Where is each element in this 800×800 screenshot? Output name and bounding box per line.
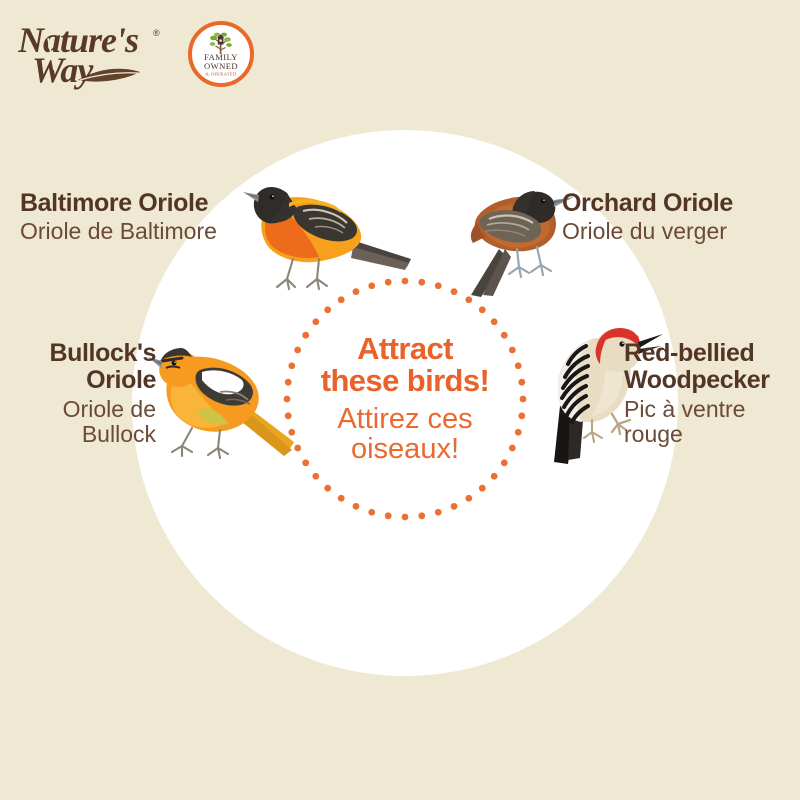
svg-text:OWNED: OWNED [204, 61, 238, 71]
bird-name-english: Orchard Oriole [562, 190, 797, 216]
bird-name-french: Pic à ventre rouge [624, 397, 800, 448]
bird-name-french: Oriole de Bullock [8, 397, 156, 448]
attract-these-birds-badge: Attract these birds! Attirez ces oiseaux… [282, 276, 528, 522]
bullocks-oriole-illustration [148, 330, 298, 470]
family-owned-badge: FAMILY OWNED & OPERATED [188, 21, 254, 87]
bird-name-french: Oriole du verger [562, 219, 797, 243]
bird-label-orchard-oriole: Orchard Oriole Oriole du verger [562, 190, 797, 243]
badge-text: Attract these birds! Attirez ces oiseaux… [282, 276, 528, 522]
promo-graphic: Nature's Way ® [0, 0, 800, 800]
bird-label-red-bellied-woodpecker: Red-bellied Woodpecker Pic à ventre roug… [624, 340, 800, 448]
badge-text-english: Attract these birds! [321, 333, 490, 396]
bird-name-english: Baltimore Oriole [20, 190, 250, 216]
natures-way-logo: Nature's Way ® [18, 18, 170, 90]
badge-text-french: Attirez ces oiseaux! [337, 404, 472, 465]
svg-text:& OPERATED: & OPERATED [205, 72, 237, 77]
bird-name-english: Red-bellied Woodpecker [624, 340, 800, 394]
svg-text:Way: Way [32, 50, 94, 90]
bird-label-bullocks-oriole: Bullock's Oriole Oriole de Bullock [8, 340, 156, 448]
bird-label-baltimore-oriole: Baltimore Oriole Oriole de Baltimore [20, 190, 250, 243]
svg-text:®: ® [153, 28, 160, 38]
bird-name-english: Bullock's Oriole [8, 340, 156, 394]
bird-name-french: Oriole de Baltimore [20, 219, 250, 243]
brand-header: Nature's Way ® [18, 18, 254, 90]
